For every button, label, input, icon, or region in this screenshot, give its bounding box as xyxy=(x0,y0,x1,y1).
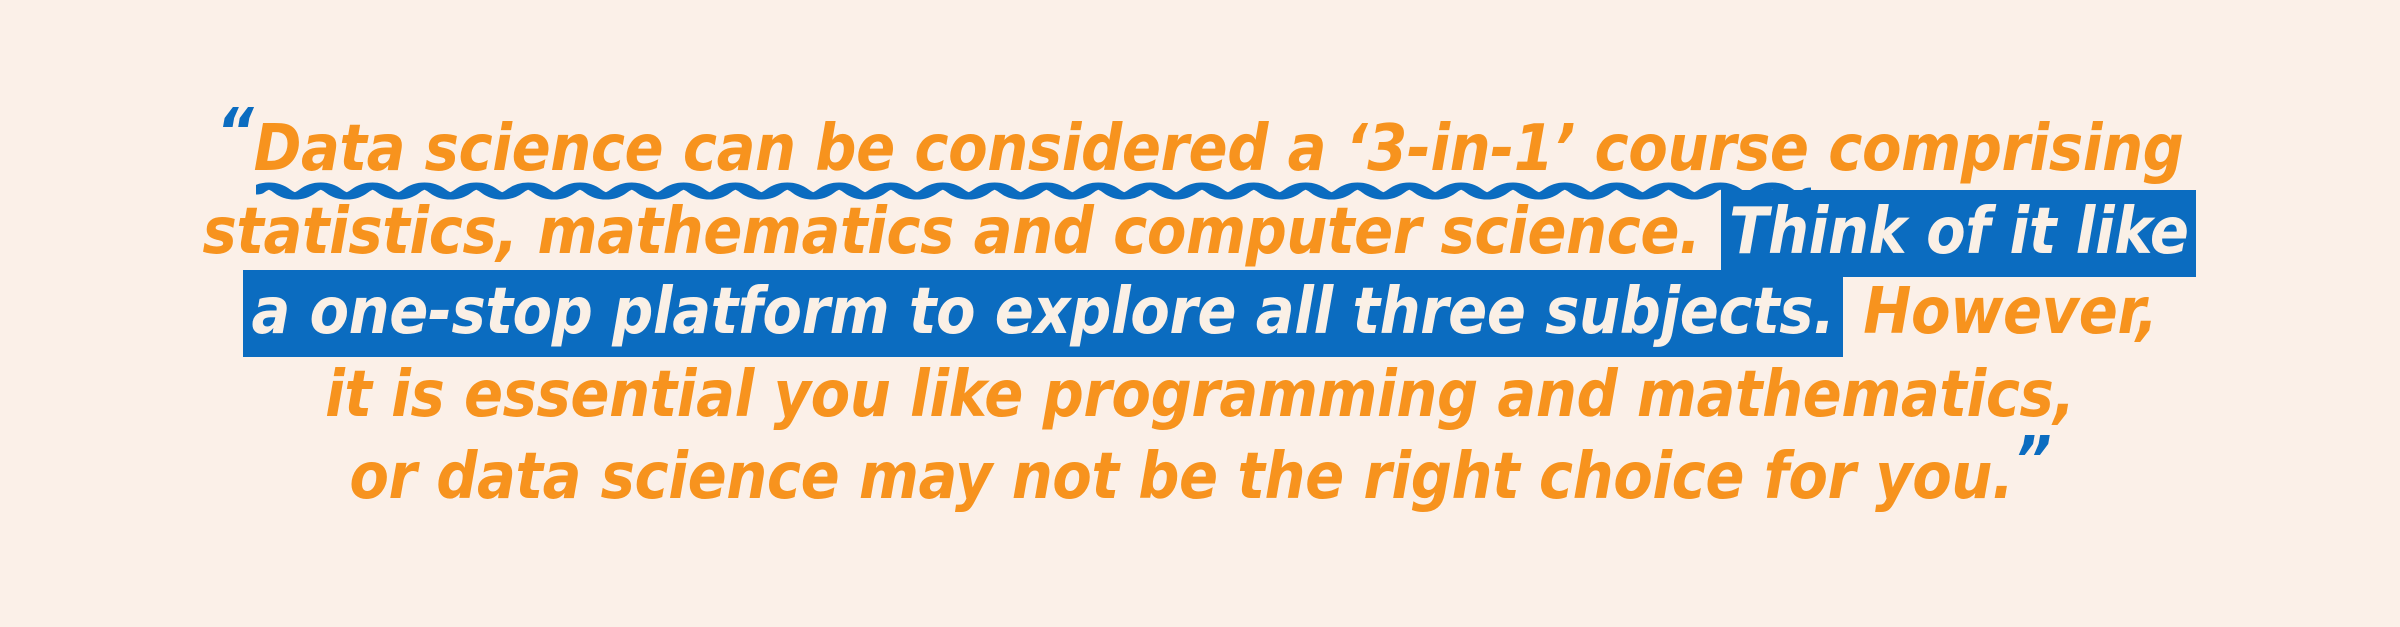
quote-line-1: “Data science can be considered a ‘3-in-… xyxy=(216,117,2183,189)
quote-line-3-highlighted-segment: a one-stop platform to explore all three… xyxy=(243,270,1842,357)
quote-banner: “Data science can be considered a ‘3-in-… xyxy=(0,0,2400,627)
quote-line-3: a one-stop platform to explore all three… xyxy=(242,280,2157,352)
quote-line-4-segment-1: it is essential you like programming and… xyxy=(325,358,2075,432)
quote-line-3-segment-2: However, xyxy=(1844,275,2158,349)
closing-quote-mark: ” xyxy=(2015,424,2051,498)
quote-line-1-segment-2: comprising xyxy=(1809,112,2184,186)
quote-line-2-segment-1: statistics, mathematics and computer sci… xyxy=(203,195,1721,269)
quote-line-5: or data science may not be the right cho… xyxy=(349,445,2050,517)
quote-line-4: it is essential you like programming and… xyxy=(325,363,2075,435)
quote-line-2: statistics, mathematics and computer sci… xyxy=(203,200,2198,272)
quote-line-5-segment-1: or data science may not be the right cho… xyxy=(349,440,2013,514)
opening-quote-mark: “ xyxy=(216,96,252,170)
quote-line-1-segment-1: Data science can be considered a ‘3-in-1… xyxy=(254,112,1809,186)
quote-line-2-highlighted-segment: Think of it like xyxy=(1721,190,2196,277)
wavy-underline-group: Data science can be considered a ‘3-in-1… xyxy=(254,117,1809,181)
quote-text-container: “Data science can be considered a ‘3-in-… xyxy=(120,117,2280,517)
